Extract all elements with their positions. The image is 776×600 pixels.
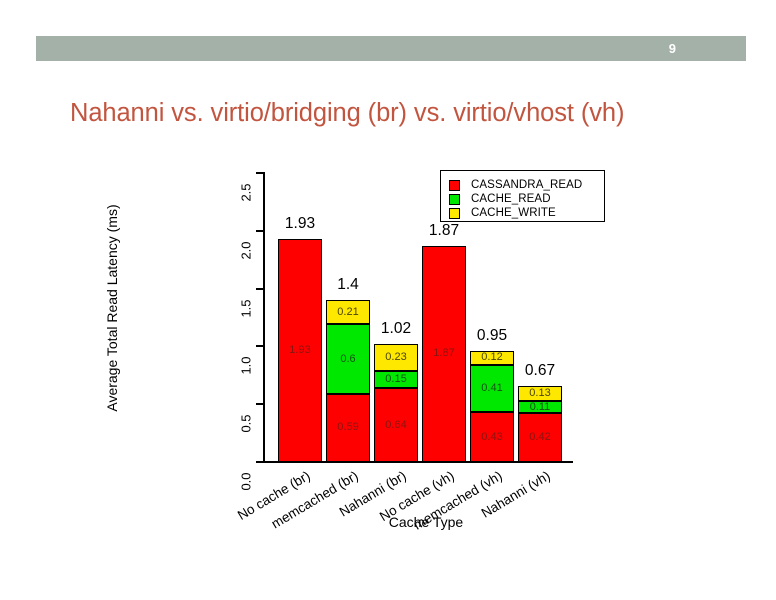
bar-segment-value: 0.12 <box>481 352 502 363</box>
chart-legend: CASSANDRA_READCACHE_READCACHE_WRITE <box>440 170 605 222</box>
y-axis-tick-label: 2.0 <box>239 230 254 270</box>
bar-segment-value: 0.6 <box>340 354 355 365</box>
bar-segment: 0.11 <box>518 401 562 414</box>
legend-label: CACHE_WRITE <box>471 207 556 219</box>
bar-segment-value: 0.15 <box>385 374 406 385</box>
bar-segment-value: 0.42 <box>529 432 550 443</box>
bar-segment-value: 0.13 <box>529 388 550 399</box>
bar-total-label: 1.4 <box>313 276 383 294</box>
bar-segment-value: 0.64 <box>385 420 406 431</box>
bar-segment-value: 1.93 <box>289 345 310 356</box>
bar-segment-value: 0.23 <box>385 352 406 363</box>
legend-item: CACHE_WRITE <box>449 206 556 220</box>
y-axis-tick-label: 0.5 <box>239 404 254 444</box>
y-axis-tick <box>256 172 263 174</box>
bar-segment-value: 0.11 <box>530 402 551 413</box>
bar-total-label: 0.67 <box>505 362 575 380</box>
bar-total-label: 1.93 <box>265 215 335 233</box>
x-axis-title: Cache Type <box>316 514 536 530</box>
slide-canvas: 9 Nahanni vs. virtio/bridging (br) vs. v… <box>0 0 776 600</box>
bar-total-label: 1.87 <box>409 222 479 240</box>
y-axis-tick-label: 0.0 <box>239 462 254 502</box>
bar-segment: 0.13 <box>518 386 562 401</box>
bar-segment: 0.43 <box>470 412 514 462</box>
bar-segment-value: 0.43 <box>481 432 502 443</box>
bar-segment-value: 0.21 <box>337 307 358 318</box>
legend-label: CACHE_READ <box>471 193 551 205</box>
bar-segment: 0.23 <box>374 344 418 371</box>
bar-total-label: 1.02 <box>361 320 431 338</box>
bar-segment-value: 0.59 <box>337 422 358 433</box>
bar-segment-value: 0.41 <box>481 383 502 394</box>
legend-swatch-icon <box>449 208 460 219</box>
y-axis-tick <box>256 230 263 232</box>
y-axis-tick-label: 1.0 <box>239 346 254 386</box>
y-axis-tick <box>256 345 263 347</box>
bar-segment: 1.93 <box>278 239 322 462</box>
bar-total-label: 0.95 <box>457 327 527 345</box>
legend-label: CASSANDRA_READ <box>471 179 582 191</box>
y-axis-tick-label: 2.5 <box>239 173 254 213</box>
bar-segment: 0.59 <box>326 394 370 462</box>
y-axis-tick-label: 1.5 <box>239 288 254 328</box>
legend-item: CASSANDRA_READ <box>449 178 582 192</box>
y-axis-tick <box>256 461 263 463</box>
legend-item: CACHE_READ <box>449 192 551 206</box>
y-axis-tick <box>256 403 263 405</box>
y-axis-title: Average Total Read Latency (ms) <box>104 188 120 428</box>
bar-segment: 0.15 <box>374 371 418 388</box>
bar-segment: 0.42 <box>518 413 562 462</box>
bar-segment-value: 1.87 <box>433 348 454 359</box>
legend-swatch-icon <box>449 194 460 205</box>
chart-plot-area: 0.00.51.01.52.02.5 Average Total Read La… <box>0 0 776 600</box>
legend-swatch-icon <box>449 180 460 191</box>
y-axis-tick <box>256 288 263 290</box>
bar-segment: 0.64 <box>374 388 418 462</box>
bar-segment: 1.87 <box>422 246 466 462</box>
